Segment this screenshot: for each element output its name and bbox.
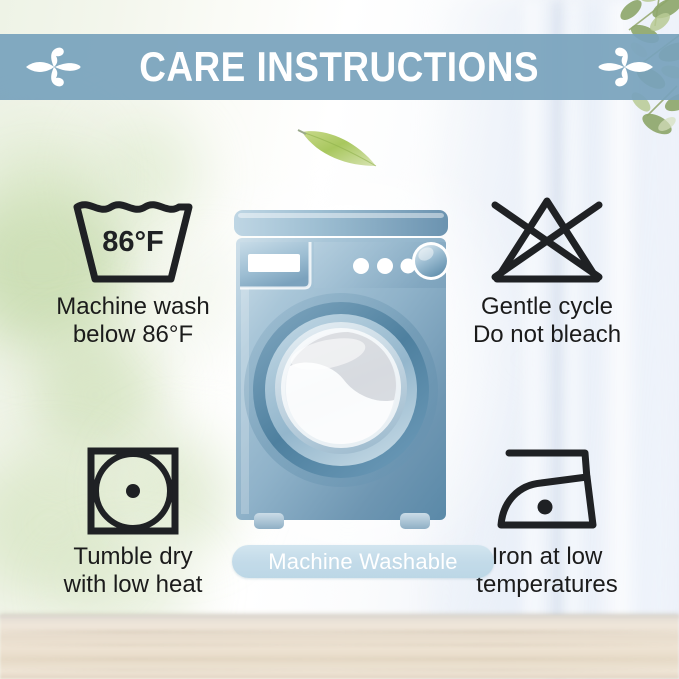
do-not-bleach-triangle-icon (479, 193, 615, 289)
care-instructions-infographic: CARE INSTRUCTIONS 86°F Machine wash belo… (0, 0, 679, 679)
wash-tub-icon: 86°F (65, 193, 201, 289)
header-banner: CARE INSTRUCTIONS (0, 34, 679, 100)
badge-label: Machine Washable (268, 549, 457, 575)
machine-foot (254, 513, 284, 529)
page-title: CARE INSTRUCTIONS (140, 43, 540, 91)
fleur-de-lis-ornament (593, 44, 655, 90)
care-symbol-label: Machine wash below 86°F (56, 293, 209, 349)
lid-highlight (238, 213, 444, 218)
low-heat-dot (126, 484, 140, 498)
table-grain-line (0, 631, 679, 633)
low-heat-dot (538, 500, 553, 515)
care-symbol-machine-wash: 86°F Machine wash below 86°F (18, 193, 248, 349)
table-grain-line (0, 644, 679, 646)
fleur-de-lis-ornament (24, 44, 86, 90)
care-symbol-label: Tumble dry with low heat (64, 543, 203, 599)
machine-button[interactable] (377, 258, 393, 274)
machine-foot (400, 513, 430, 529)
care-symbol-tumble-dry: Tumble dry with low heat (18, 443, 248, 599)
table-grain-line (0, 669, 679, 671)
machine-washable-badge: Machine Washable (232, 545, 494, 578)
wash-temperature-value: 86°F (102, 226, 164, 258)
care-symbol-label: Iron at low temperatures (476, 543, 617, 599)
tumble-dry-low-icon (78, 443, 188, 539)
table-grain-line (0, 658, 679, 660)
iron-low-heat-icon (479, 443, 615, 539)
machine-button[interactable] (353, 258, 369, 274)
care-symbol-label: Gentle cycle Do not bleach (473, 293, 621, 349)
care-symbol-do-not-bleach: Gentle cycle Do not bleach (432, 193, 662, 349)
drawer-slot (248, 254, 300, 272)
washing-machine-illustration (228, 208, 454, 538)
